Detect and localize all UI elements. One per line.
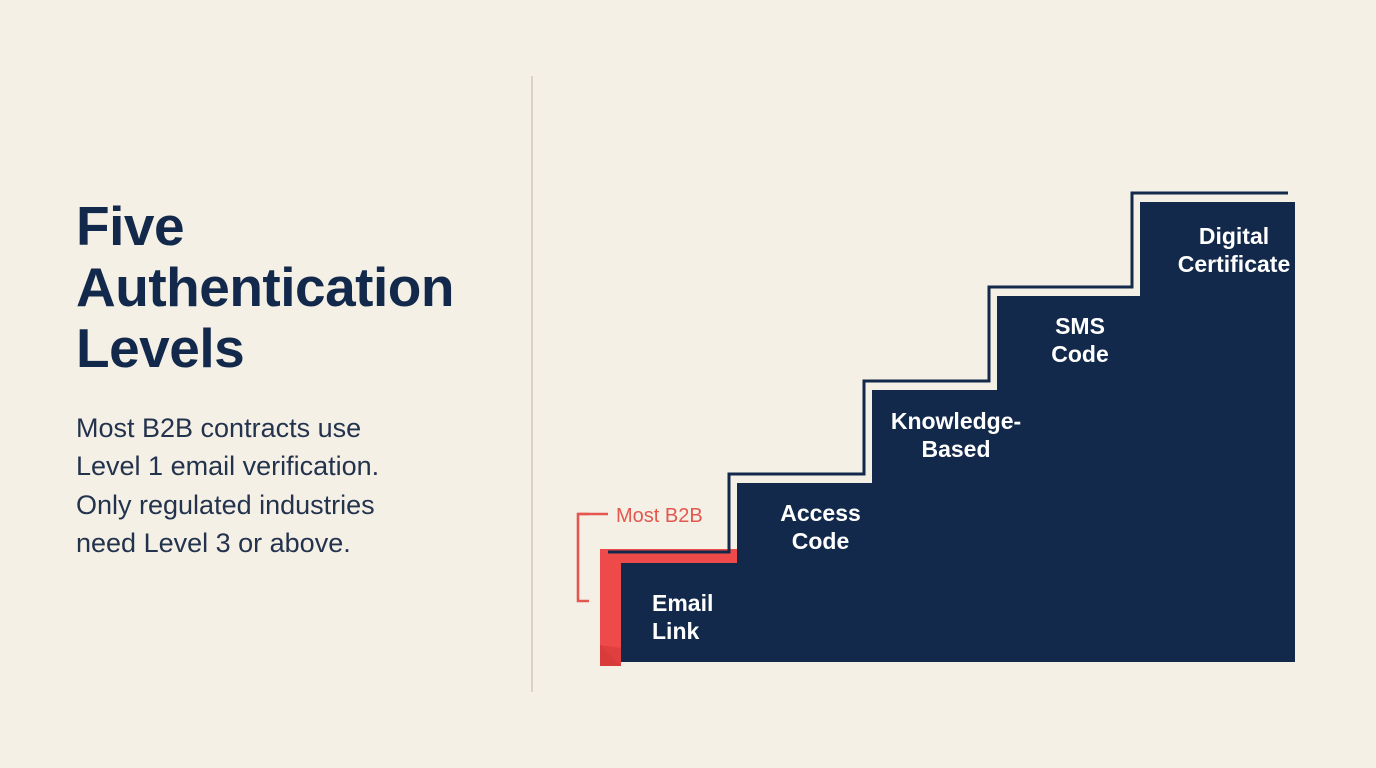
step-label-sms-code: SMS Code: [1020, 312, 1140, 368]
bracket-icon: [578, 514, 608, 601]
step-label-email-link: Email Link: [652, 589, 792, 645]
page-subcopy: Most B2B contracts use Level 1 email ver…: [76, 409, 496, 562]
text-column: Five Authentication Levels Most B2B cont…: [76, 196, 496, 562]
callout-label-most-b2b: Most B2B: [616, 505, 703, 528]
page-title: Five Authentication Levels: [76, 196, 496, 379]
step-label-access-code: Access Code: [748, 499, 893, 555]
infographic-canvas: Five Authentication Levels Most B2B cont…: [0, 0, 1376, 768]
vertical-divider: [531, 76, 533, 692]
step-label-digital-certificate: Digital Certificate: [1150, 222, 1318, 278]
step-label-knowledge-based: Knowledge- Based: [880, 407, 1032, 463]
